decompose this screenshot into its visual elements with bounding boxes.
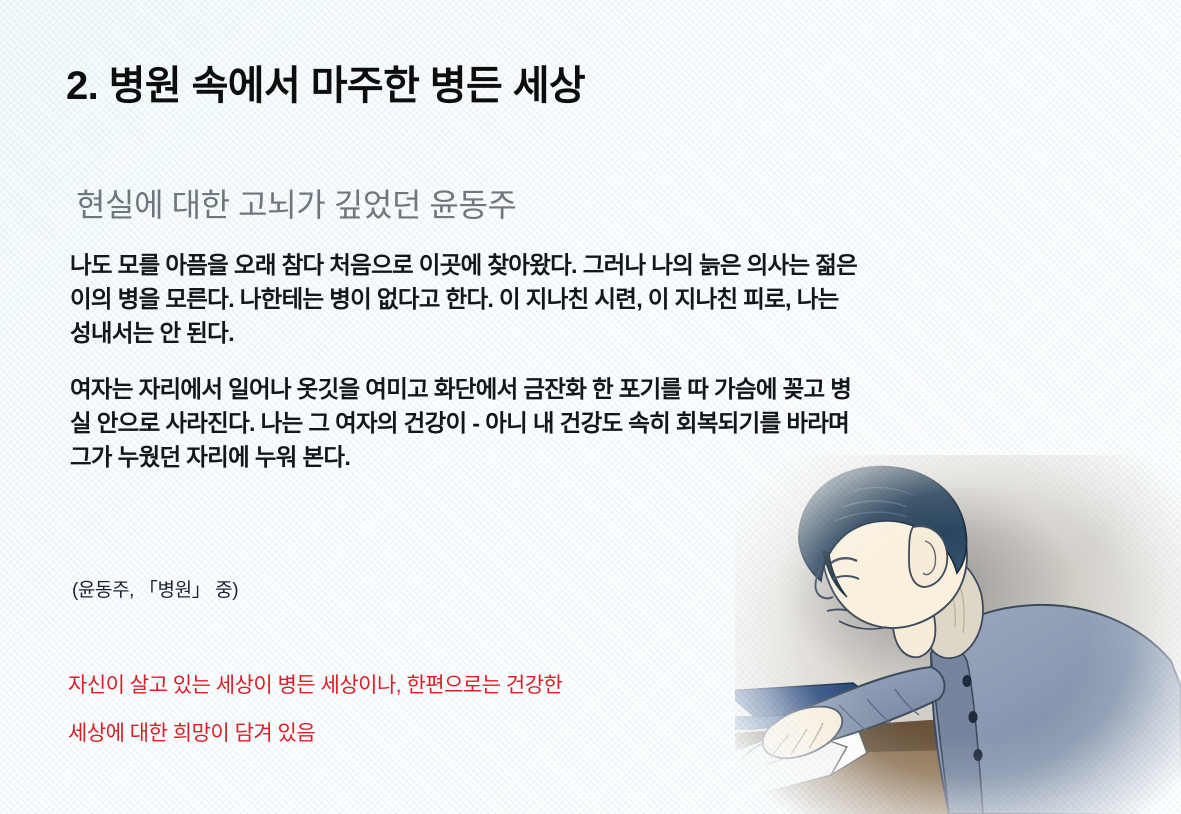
jawline xyxy=(839,621,887,629)
takeaway-line-1: 자신이 살고 있는 세상이 병든 세상이나, 한편으로는 건강한 xyxy=(68,662,708,710)
sleeve-fold-1 xyxy=(839,705,867,731)
sleeve-fold-2 xyxy=(867,699,893,725)
finger-line-3 xyxy=(809,723,823,749)
sideburn xyxy=(823,551,847,597)
hair-strand-3 xyxy=(853,488,913,495)
jacket-placket xyxy=(949,653,977,814)
eye xyxy=(833,576,859,579)
neck xyxy=(893,585,936,657)
jacket-button-2 xyxy=(968,711,977,723)
blue-book-cover xyxy=(735,683,885,717)
thumb xyxy=(741,743,763,761)
head-shadow xyxy=(775,475,1075,695)
wall-background xyxy=(735,455,1181,814)
sleeve-fold-3 xyxy=(895,689,919,715)
page-title: 2. 병원 속에서 마주한 병든 세상 xyxy=(66,62,585,110)
ear xyxy=(909,526,947,587)
hair-strand-1 xyxy=(843,501,907,507)
collar-texture-1 xyxy=(935,565,955,627)
mouth xyxy=(827,610,849,612)
illustration-svg xyxy=(735,455,1181,814)
collar-scarf xyxy=(924,547,983,658)
jacket-button-1 xyxy=(962,675,971,687)
quote-block: 나도 모를 아픔을 오래 참다 처음으로 이곳에 찾아왔다. 그러나 나의 늙은… xyxy=(70,248,860,474)
book-page-crease xyxy=(765,743,830,765)
face xyxy=(823,490,967,628)
desk-edge xyxy=(735,713,1181,755)
hair-strand-2 xyxy=(835,512,907,521)
quote-paragraph-2: 여자는 자리에서 일어나 옷깃을 여미고 화단에서 금잔화 한 포기를 따 가슴… xyxy=(70,372,860,474)
nose xyxy=(815,567,833,598)
eyebrow xyxy=(831,558,857,563)
takeaway-note: 자신이 살고 있는 세상이 병든 세상이나, 한편으로는 건강한 세상에 대한 … xyxy=(68,662,708,758)
desk-surface xyxy=(735,713,1181,814)
hair xyxy=(799,467,967,581)
finger-line-1 xyxy=(771,735,789,759)
jacket-sleeve xyxy=(783,667,945,745)
slide-canvas: 2. 병원 속에서 마주한 병든 세상 현실에 대한 고뇌가 깊었던 윤동주 나… xyxy=(0,0,1181,814)
jacket-lapel xyxy=(931,647,983,814)
takeaway-line-2: 세상에 대한 희망이 담겨 있음 xyxy=(68,710,708,758)
blue-book-pages xyxy=(735,707,885,729)
open-book-left-page xyxy=(735,729,847,795)
slide-subtitle: 현실에 대한 고뇌가 깊었던 윤동주 xyxy=(76,185,517,225)
finger-line-2 xyxy=(791,729,807,755)
collar-texture-2 xyxy=(945,561,964,633)
hand xyxy=(763,707,842,759)
quote-paragraph-1: 나도 모를 아픔을 오래 참다 처음으로 이곳에 찾아왔다. 그러나 나의 늙은… xyxy=(70,248,860,350)
quote-citation: (윤동주, 「병원」 중) xyxy=(72,575,238,602)
ear-inner xyxy=(923,541,936,575)
open-book-right-page xyxy=(795,721,867,775)
jacket-button-3 xyxy=(973,749,982,761)
jacket-body xyxy=(931,605,1181,814)
young-man-reading-at-desk-illustration xyxy=(735,455,1181,814)
